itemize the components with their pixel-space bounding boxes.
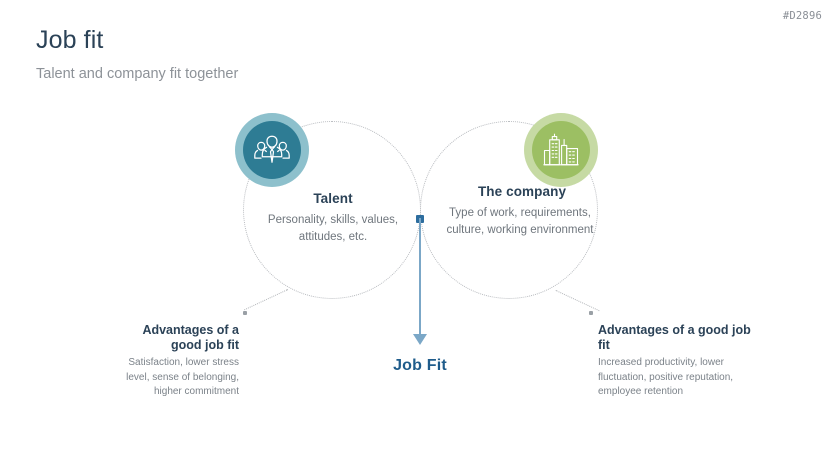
arrow-head-icon [413, 334, 427, 345]
connector-line-left [244, 288, 288, 310]
people-group-icon [254, 133, 290, 167]
company-badge[interactable] [524, 113, 598, 187]
document-id: #D2896 [783, 10, 822, 22]
city-buildings-icon [543, 133, 579, 167]
talent-badge[interactable] [235, 113, 309, 187]
company-heading: The company [437, 184, 607, 199]
company-body-text: Type of work, requirements, culture, wor… [430, 205, 610, 238]
advantages-left-body: Satisfaction, lower stress level, sense … [108, 356, 239, 400]
page-title: Job fit [36, 26, 103, 55]
connector-line-right [555, 290, 599, 312]
down-arrow-icon [419, 218, 421, 338]
talent-badge-inner [243, 121, 301, 179]
connector-endpoint-right [589, 311, 593, 315]
advantages-right-body: Increased productivity, lower fluctuatio… [598, 356, 746, 400]
talent-heading: Talent [263, 191, 403, 206]
advantages-right-heading: Advantages of a good job fit [598, 323, 758, 353]
talent-body-text: Personality, skills, values, attitudes, … [263, 212, 403, 245]
company-badge-inner [532, 121, 590, 179]
slide-canvas: #D2896 Job fit Talent and company fit to… [0, 0, 836, 470]
connector-endpoint-left [243, 311, 247, 315]
page-subtitle: Talent and company fit together [36, 64, 296, 85]
advantages-left-heading: Advantages of a good job fit [120, 323, 239, 353]
job-fit-label: Job Fit [355, 357, 485, 375]
